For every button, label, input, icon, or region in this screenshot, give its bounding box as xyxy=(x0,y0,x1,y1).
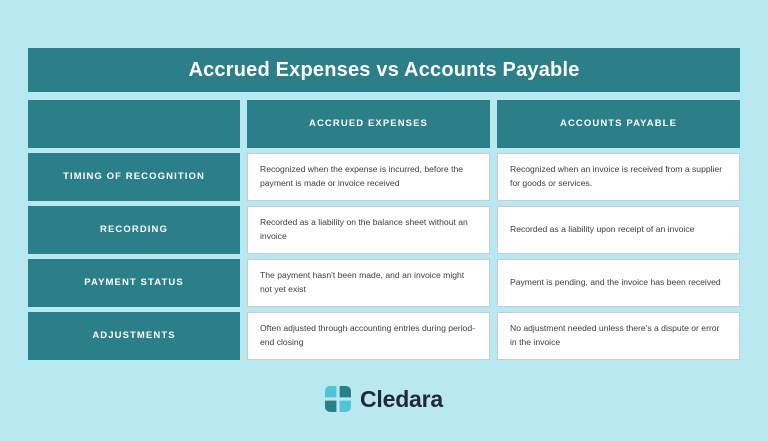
content-cell: Recognized when an invoice is received f… xyxy=(497,153,740,201)
footer-brand: Cledara xyxy=(325,386,443,412)
cell-text: Recognized when an invoice is received f… xyxy=(510,163,727,191)
column-header-label: ACCRUED EXPENSES xyxy=(309,118,428,130)
title-banner: Accrued Expenses vs Accounts Payable xyxy=(28,48,740,92)
row-label-text: PAYMENT STATUS xyxy=(84,277,184,289)
table-row: PAYMENT STATUS The payment hasn't been m… xyxy=(28,259,740,307)
content-cell: Recorded as a liability upon receipt of … xyxy=(497,206,740,254)
cell-text: Payment is pending, and the invoice has … xyxy=(510,276,721,290)
content-cell: Recognized when the expense is incurred,… xyxy=(247,153,490,201)
row-label-timing-of-recognition: TIMING OF RECOGNITION xyxy=(28,153,240,201)
cell-text: Recorded as a liability upon receipt of … xyxy=(510,223,694,237)
row-label-adjustments: ADJUSTMENTS xyxy=(28,312,240,360)
table-corner-cell xyxy=(28,100,240,148)
row-label-text: RECORDING xyxy=(100,224,168,236)
cell-accounts-payable: Recognized when an invoice is received f… xyxy=(497,153,740,201)
content-cell: No adjustment needed unless there's a di… xyxy=(497,312,740,360)
column-header-cell: ACCOUNTS PAYABLE xyxy=(497,100,740,148)
cell-accrued-expenses: Recorded as a liability on the balance s… xyxy=(247,206,490,254)
row-label-cell: PAYMENT STATUS xyxy=(28,259,240,307)
cell-text: No adjustment needed unless there's a di… xyxy=(510,322,727,350)
comparison-table: ACCRUED EXPENSES ACCOUNTS PAYABLE TIMING… xyxy=(28,100,740,360)
column-header-label: ACCOUNTS PAYABLE xyxy=(560,118,677,130)
row-label-cell: TIMING OF RECOGNITION xyxy=(28,153,240,201)
cell-text: Recognized when the expense is incurred,… xyxy=(260,163,477,191)
cell-accrued-expenses: The payment hasn't been made, and an inv… xyxy=(247,259,490,307)
content-cell: The payment hasn't been made, and an inv… xyxy=(247,259,490,307)
table-row: TIMING OF RECOGNITION Recognized when th… xyxy=(28,153,740,201)
row-label-text: ADJUSTMENTS xyxy=(92,330,175,342)
column-header-cell: ACCRUED EXPENSES xyxy=(247,100,490,148)
content-cell: Often adjusted through accounting entrie… xyxy=(247,312,490,360)
content-cell: Recorded as a liability on the balance s… xyxy=(247,206,490,254)
column-header-accrued-expenses: ACCRUED EXPENSES xyxy=(247,100,490,148)
table-header-row: ACCRUED EXPENSES ACCOUNTS PAYABLE xyxy=(28,100,740,148)
cell-accounts-payable: No adjustment needed unless there's a di… xyxy=(497,312,740,360)
infographic-root: Accrued Expenses vs Accounts Payable ACC… xyxy=(0,0,768,441)
row-label-payment-status: PAYMENT STATUS xyxy=(28,259,240,307)
cell-accounts-payable: Payment is pending, and the invoice has … xyxy=(497,259,740,307)
row-label-recording: RECORDING xyxy=(28,206,240,254)
row-label-text: TIMING OF RECOGNITION xyxy=(63,171,205,183)
row-label-cell: RECORDING xyxy=(28,206,240,254)
cell-accrued-expenses: Often adjusted through accounting entrie… xyxy=(247,312,490,360)
cell-text: Often adjusted through accounting entrie… xyxy=(260,322,477,350)
cledara-quadrant-logo-icon xyxy=(325,386,351,412)
column-header-accounts-payable: ACCOUNTS PAYABLE xyxy=(497,100,740,148)
cell-accounts-payable: Recorded as a liability upon receipt of … xyxy=(497,206,740,254)
cell-accrued-expenses: Recognized when the expense is incurred,… xyxy=(247,153,490,201)
brand-wordmark: Cledara xyxy=(360,388,443,411)
content-cell: Payment is pending, and the invoice has … xyxy=(497,259,740,307)
row-label-cell: ADJUSTMENTS xyxy=(28,312,240,360)
cell-text: Recorded as a liability on the balance s… xyxy=(260,216,477,244)
page-title: Accrued Expenses vs Accounts Payable xyxy=(188,59,579,82)
cell-text: The payment hasn't been made, and an inv… xyxy=(260,269,477,297)
table-row: RECORDING Recorded as a liability on the… xyxy=(28,206,740,254)
corner-cell-inner xyxy=(28,100,240,148)
table-row: ADJUSTMENTS Often adjusted through accou… xyxy=(28,312,740,360)
